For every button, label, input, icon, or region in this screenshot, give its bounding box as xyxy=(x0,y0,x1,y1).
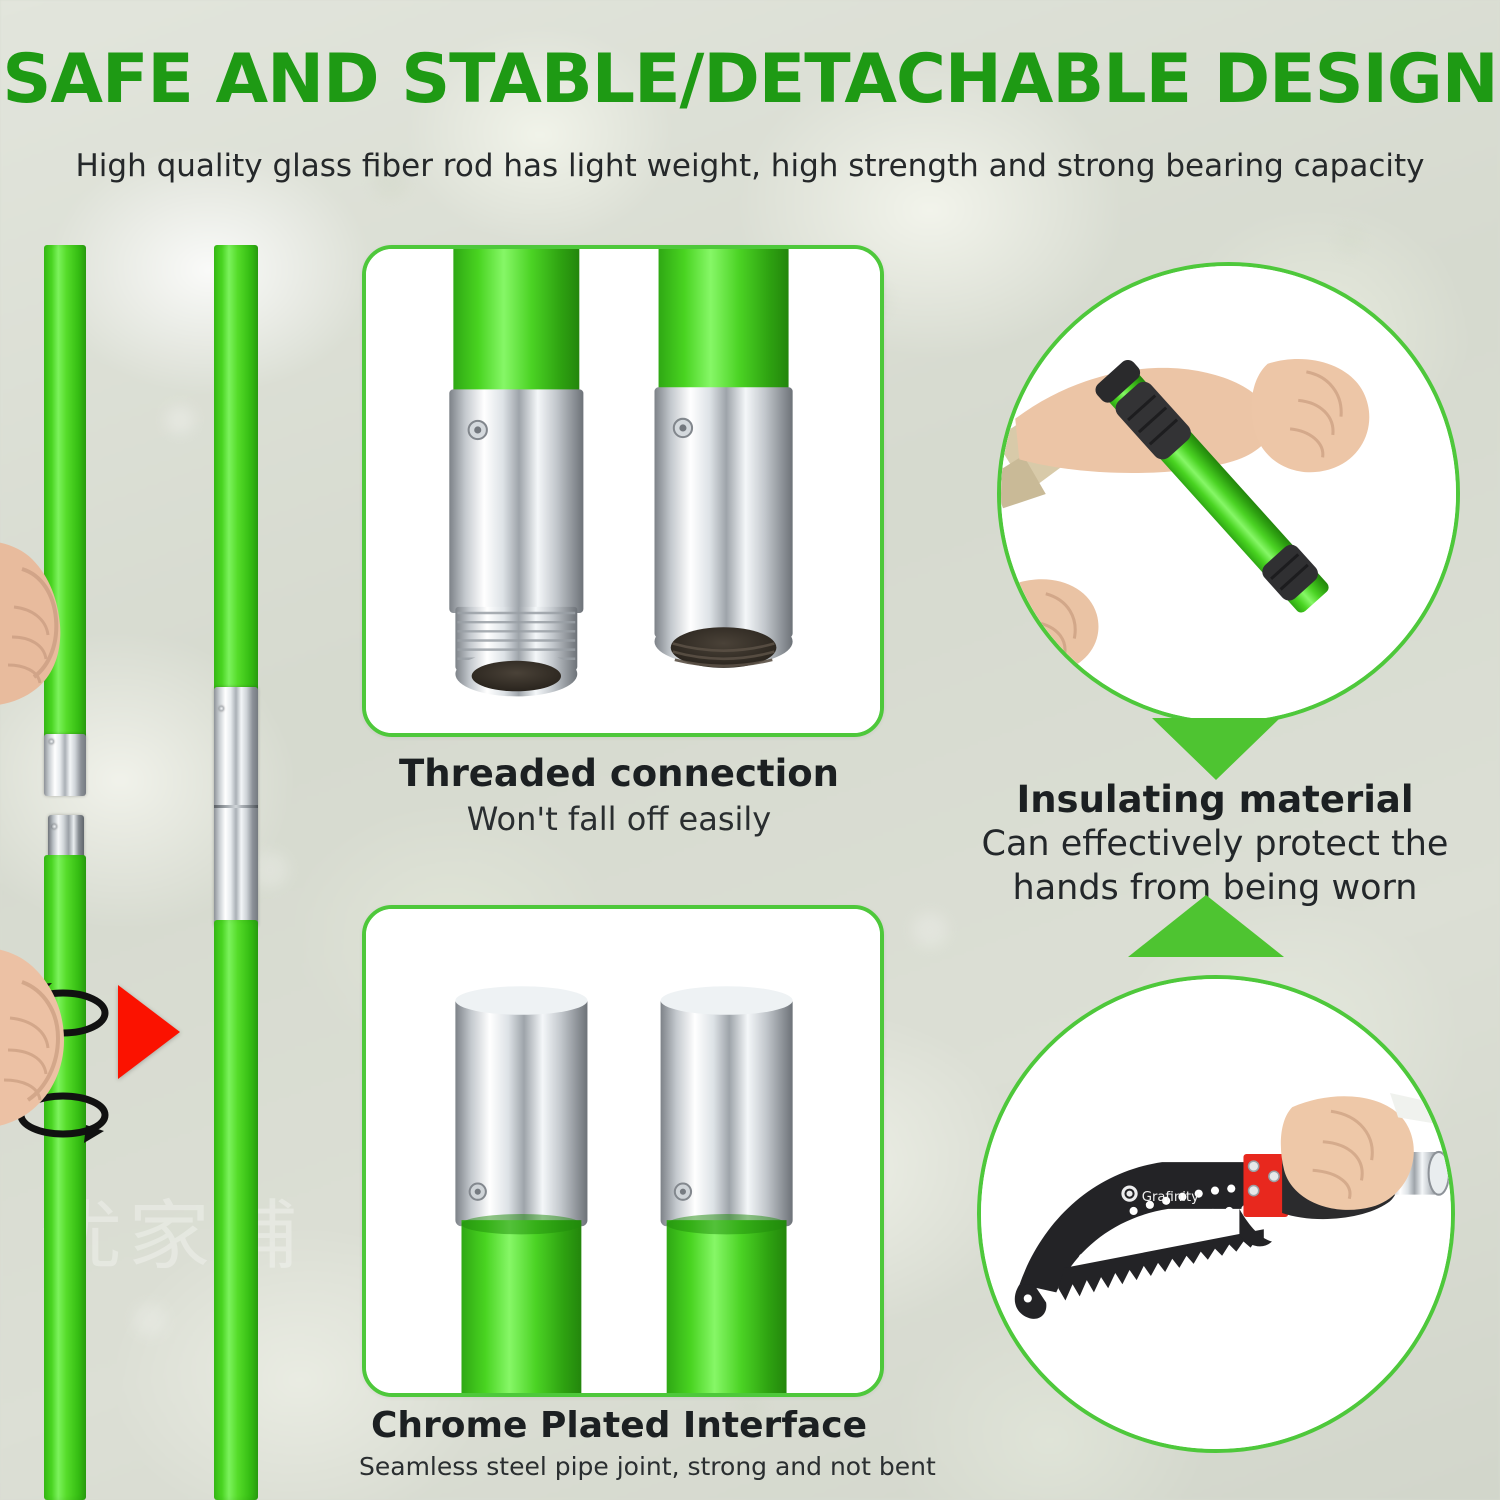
page-subtitle: High quality glass fiber rod has light w… xyxy=(0,148,1500,184)
page-title: SAFE AND STABLE/DETACHABLE DESIGN xyxy=(0,46,1500,114)
chevron-up-indicator-icon xyxy=(1128,895,1284,957)
red-play-arrow-icon xyxy=(118,985,180,1079)
insulating-material-photo xyxy=(1001,266,1456,721)
circle-insulating-material-title: Insulating material xyxy=(955,778,1475,821)
hand-upper-grip xyxy=(0,533,94,727)
hand-lower-grip xyxy=(0,930,98,1144)
pole-lower-section-right xyxy=(214,920,258,1500)
chrome-plated-interface-photo xyxy=(366,909,880,1393)
infographic-root: 优家铺 SAFE AND STABLE/DETACHABLE DESIGN Hi… xyxy=(0,0,1500,1500)
panel-threaded-connection xyxy=(362,245,884,737)
pruning-saw-photo: Grafinity xyxy=(981,979,1451,1449)
circle-insulating-material xyxy=(997,262,1460,725)
panel-threaded-connection-title: Threaded connection xyxy=(359,752,879,795)
ferrule-upper-left xyxy=(44,734,86,796)
pole-assembly-illustration xyxy=(0,215,350,1500)
panel-threaded-connection-subtitle: Won't fall off easily xyxy=(359,800,879,838)
panel-chrome-plated-interface-subtitle: Seamless steel pipe joint, strong and no… xyxy=(359,1452,879,1481)
brand-logo-icon xyxy=(1121,1186,1137,1202)
circle-insulating-material-line-1: Can effectively protect the xyxy=(955,824,1475,864)
circle-pruning-saw: Grafinity xyxy=(977,975,1455,1453)
brand-name-label: Grafinity xyxy=(1142,1190,1199,1205)
pole-upper-section-right xyxy=(214,245,258,700)
panel-chrome-plated-interface xyxy=(362,905,884,1397)
panel-chrome-plated-interface-title: Chrome Plated Interface xyxy=(359,1405,879,1446)
threaded-connection-photo xyxy=(366,249,880,733)
chevron-down-indicator-icon xyxy=(1152,718,1280,780)
ferrule-seam-line xyxy=(214,805,258,808)
